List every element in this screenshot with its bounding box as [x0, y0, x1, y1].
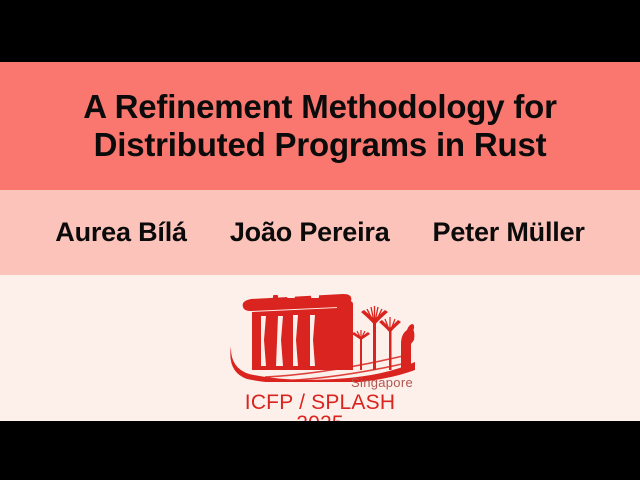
author-list: Aurea Bílá João Pereira Peter Müller [55, 217, 584, 248]
authors-band: Aurea Bílá João Pereira Peter Müller [0, 190, 640, 275]
title-slide: A Refinement Methodology for Distributed… [0, 0, 640, 480]
letterbox-top [0, 0, 640, 62]
title-line-2: Distributed Programs in Rust [94, 126, 547, 164]
author-name: Aurea Bílá [55, 217, 187, 248]
letterbox-bottom [0, 421, 640, 480]
singapore-skyline-icon [225, 282, 415, 382]
logo-location-label: Singapore [351, 376, 413, 389]
title-band: A Refinement Methodology for Distributed… [0, 62, 640, 190]
title-line-1: A Refinement Methodology for [83, 88, 557, 126]
conference-logo: Singapore ICFP / SPLASH 2025 [225, 282, 415, 417]
author-name: João Pereira [230, 217, 390, 248]
author-name: Peter Müller [433, 217, 585, 248]
logo-band: Singapore ICFP / SPLASH 2025 [0, 275, 640, 421]
